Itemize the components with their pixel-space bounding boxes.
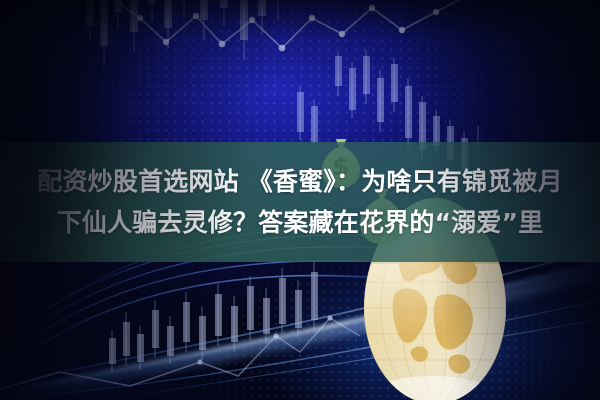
banner-image: $ $ 配资炒股首选网站 《香蜜》：为啥只有锦觅被月 下仙人骗去灵修？答案藏在花…: [0, 0, 600, 400]
vignette-top: [0, 0, 600, 400]
